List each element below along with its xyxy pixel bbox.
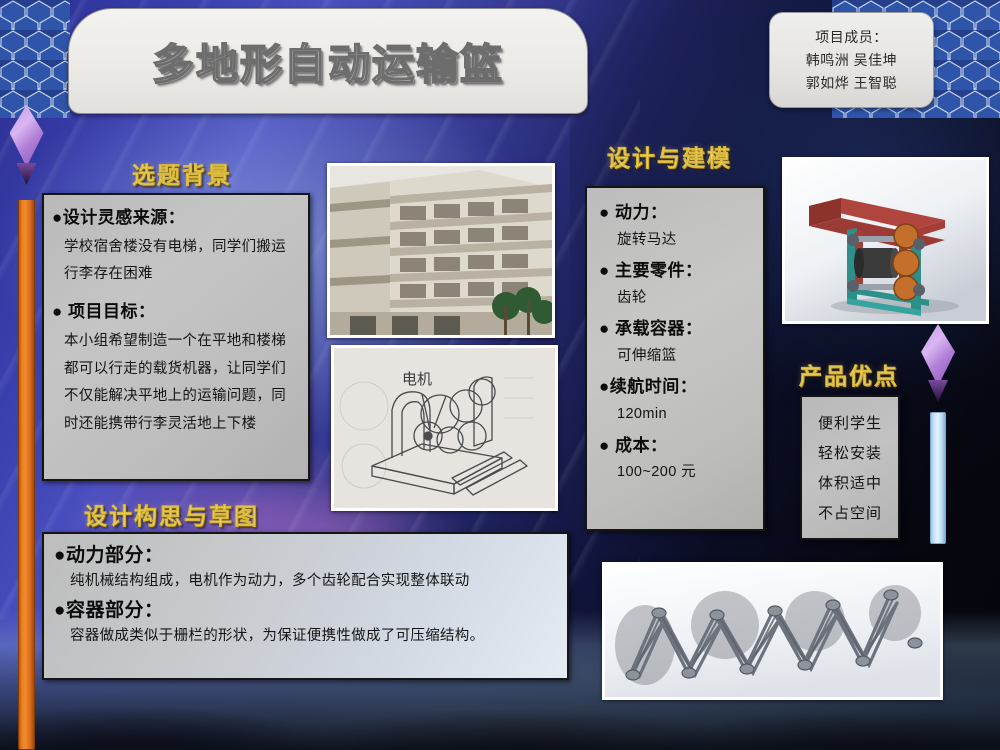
advantage-item-1: 便利学生 bbox=[818, 412, 882, 433]
spec-container-value: 可伸缩篮 bbox=[617, 345, 753, 368]
cad-model-gear-drive-render bbox=[782, 157, 989, 324]
honeycomb-pattern-left bbox=[0, 0, 70, 118]
bullet-power-line-1: 纯机械结构组成，电机作为动力，多个齿轮配合实现整体联动 bbox=[70, 571, 553, 593]
project-members-box: 项目成员： 韩鸣洲 吴佳坤 郭如烨 王智聪 bbox=[769, 12, 934, 108]
poster-canvas: 多地形自动运输篮 项目成员： 韩鸣洲 吴佳坤 郭如烨 王智聪 选题背景 设计构思… bbox=[0, 0, 1000, 750]
spec-cost-value: 100~200 元 bbox=[617, 461, 753, 484]
spec-power-value: 旋转马达 bbox=[617, 229, 753, 252]
spec-parts-value: 齿轮 bbox=[617, 287, 753, 310]
panel-concept-content: ●动力部分： 纯机械结构组成，电机作为动力，多个齿轮配合实现整体联动 ●容器部分… bbox=[42, 532, 569, 680]
panel-design-specs: ● 动力： 旋转马达 ● 主要零件： 齿轮 ● 承载容器： 可伸缩篮 ●续航时间… bbox=[585, 186, 765, 531]
spec-container-label: ● 承载容器： bbox=[599, 318, 753, 341]
bullet-goal-title: ● 项目目标： bbox=[52, 301, 296, 324]
members-line-2: 郭如烨 王智聪 bbox=[806, 73, 897, 93]
panel-background-content: ●设计灵感来源： 学校宿舍楼没有电梯，同学们搬运 行李存在困难 ● 项目目标： … bbox=[42, 193, 310, 481]
spec-battery-label: ●续航时间： bbox=[599, 376, 753, 399]
purple-diamond-icon-right bbox=[921, 324, 955, 386]
blue-pillar-decoration bbox=[930, 412, 946, 544]
cad-scissor-expandable-basket-render bbox=[602, 562, 943, 700]
bullet-inspiration-title: ●设计灵感来源： bbox=[52, 207, 296, 230]
bullet-goal-line-1: 本小组希望制造一个在平地和楼梯 bbox=[64, 328, 296, 356]
heading-product-advantage: 产品优点 bbox=[799, 357, 899, 391]
page-title: 多地形自动运输篮 bbox=[152, 31, 504, 92]
bullet-inspiration-line-2: 行李存在困难 bbox=[64, 261, 296, 289]
pillar-shaft-right bbox=[930, 412, 946, 544]
bullet-goal-line-4: 时还能携带行李灵活地上下楼 bbox=[64, 411, 296, 439]
advantage-item-2: 轻松安装 bbox=[818, 442, 882, 463]
bullet-container-line-1: 容器做成类似于栅栏的形状，为保证便携性做成了可压缩结构。 bbox=[70, 626, 553, 648]
bullet-container-title: ●容器部分： bbox=[54, 598, 553, 624]
heading-background: 选题背景 bbox=[132, 156, 232, 190]
heading-design-modeling: 设计与建模 bbox=[607, 139, 732, 173]
bullet-inspiration-line-1: 学校宿舍楼没有电梯，同学们搬运 bbox=[64, 234, 296, 262]
orange-pillar-decoration bbox=[18, 199, 35, 750]
diamond-tip-shape-right bbox=[928, 380, 948, 402]
heading-design-sketch: 设计构思与草图 bbox=[84, 497, 259, 531]
bullet-goal-line-3: 不仅能解决平地上的运输问题，同 bbox=[64, 383, 296, 411]
dormitory-building-photo bbox=[327, 163, 555, 338]
svg-text:电机: 电机 bbox=[402, 370, 432, 388]
members-line-1: 韩鸣洲 吴佳坤 bbox=[806, 50, 897, 70]
spec-parts-label: ● 主要零件： bbox=[599, 260, 753, 283]
advantage-item-3: 体积适中 bbox=[818, 472, 882, 493]
diamond-tip-shape bbox=[17, 163, 37, 185]
poster-title-plaque: 多地形自动运输篮 bbox=[68, 8, 588, 114]
spec-battery-value: 120min bbox=[617, 403, 753, 426]
hand-drawn-mechanism-sketch: 电机 bbox=[331, 345, 558, 511]
spec-cost-label: ● 成本： bbox=[599, 435, 753, 458]
bullet-goal-line-2: 都可以行走的载货机器，让同学们 bbox=[64, 356, 296, 384]
pillar-shaft bbox=[18, 199, 35, 750]
members-label: 项目成员： bbox=[815, 27, 888, 47]
panel-advantages: 便利学生 轻松安装 体积适中 不占空间 bbox=[800, 395, 900, 540]
advantage-item-4: 不占空间 bbox=[818, 502, 882, 523]
bullet-power-title: ●动力部分： bbox=[54, 543, 553, 569]
spec-power-label: ● 动力： bbox=[599, 202, 753, 225]
